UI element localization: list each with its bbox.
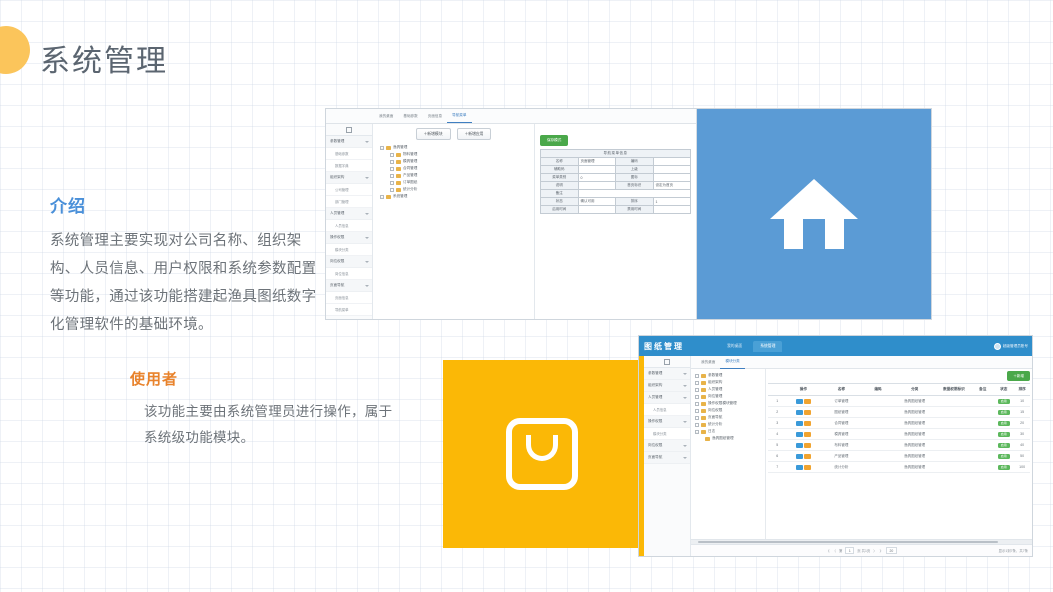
page-total-label: 页 共1页 (857, 548, 870, 553)
cell-code (862, 396, 893, 407)
sidebar-collapse-button[interactable] (326, 124, 372, 136)
cell-index: 2 (768, 407, 786, 418)
checkbox-icon[interactable] (390, 153, 394, 157)
cell-status: 启用 (993, 451, 1014, 462)
tree-node-selected[interactable]: 渔具图纸管理 (693, 435, 763, 442)
sidebar-label: 操作权限 (330, 235, 344, 240)
page-title: 系统管理 (40, 36, 168, 80)
hamburger-icon (346, 127, 352, 133)
view-icon[interactable] (796, 410, 803, 415)
table-row[interactable]: 7 统计分析 渔具图纸管理 启用 100 (768, 462, 1030, 473)
col-sort: 排序 (1014, 384, 1030, 396)
cell-index: 1 (768, 396, 786, 407)
header-tab-desktop[interactable]: 我的桌面 (720, 341, 749, 352)
cell-code (862, 451, 893, 462)
tree-node-label: 统计分析 (708, 422, 722, 427)
chevron-down-icon (683, 421, 687, 423)
page-label: 第 (839, 548, 842, 553)
folder-icon (386, 146, 391, 150)
chevron-down-icon (365, 237, 369, 239)
bottom-category-tree: 参数管理 组织架构 人员管理 岗位管理 (691, 369, 766, 539)
cell-name: 订单管理 (820, 396, 862, 407)
sidebar-label: 参数管理 (648, 371, 662, 376)
checkbox-icon[interactable] (695, 402, 699, 406)
checkbox-icon[interactable] (390, 174, 394, 178)
cell-perm (936, 451, 973, 462)
tree-node-label: 页面导航 (708, 415, 722, 420)
record-count-label: 显示1到7条，共7条 (999, 548, 1028, 553)
folder-icon (386, 195, 391, 199)
sidebar-collapse-button[interactable] (644, 356, 690, 368)
add-module-button[interactable]: ＋新增模块 (416, 128, 451, 140)
tree-node-label: 岗位权限 (708, 408, 722, 413)
sidebar-group-org[interactable]: 组织架构 (644, 380, 690, 392)
cell-sort: 40 (1014, 440, 1030, 451)
cell-status: 启用 (993, 440, 1014, 451)
tree-node-label: 合同管理 (403, 166, 417, 171)
sidebar-group-post-perm[interactable]: 岗位权限 (644, 440, 690, 452)
cell-category: 渔具图纸管理 (894, 440, 936, 451)
account-name: 超级管理员账号 (1003, 344, 1028, 349)
tree-node[interactable]: 统计分析 (693, 421, 763, 428)
edit-icon[interactable] (804, 399, 811, 404)
grid-header-row: 操作 名称 编码 分类 数据权限标识 备注 状态 排序 (768, 384, 1030, 396)
page-prev-button[interactable]: 〈 (833, 548, 836, 553)
tree-node[interactable]: 订单图纸 (378, 179, 529, 186)
view-icon[interactable] (796, 399, 803, 404)
cell-index: 3 (768, 418, 786, 429)
cell-name: 布料管理 (820, 440, 862, 451)
form-title: 导航菜单信息 (541, 150, 691, 158)
folder-icon (396, 174, 401, 178)
form-label: 禁用时间 (616, 206, 654, 214)
bottom-main-panel: 我的桌面 模块分类 参数管理 组织架构 (691, 356, 1032, 556)
intro-heading: 介绍 (50, 192, 328, 217)
user-heading: 使用者 (130, 368, 400, 389)
bottom-screenshot: 图纸管理 我的桌面 系统管理 超级管理员账号 参数管理 组织架构 人员管理 (638, 335, 1033, 557)
tree-node[interactable]: - 日志 (693, 428, 763, 435)
checkbox-icon[interactable] (390, 167, 394, 171)
form-value[interactable] (653, 166, 691, 174)
page-next-button[interactable]: 〉 (873, 548, 876, 553)
checkbox-icon[interactable] (695, 388, 699, 392)
form-label: 图标 (616, 174, 654, 182)
cell-perm (936, 440, 973, 451)
form-label: 状态 (541, 198, 579, 206)
page-first-button[interactable]: 《 (826, 548, 829, 553)
tree-node[interactable]: 统计分析 (378, 186, 529, 193)
form-label: 菜单类别 (541, 174, 579, 182)
subtab-my-desktop[interactable]: 我的桌面 (696, 356, 720, 369)
status-badge: 启用 (998, 443, 1010, 448)
save-mode-button[interactable]: 保存模式 (540, 135, 568, 146)
folder-icon (701, 409, 706, 413)
status-badge: 启用 (998, 454, 1010, 459)
expand-icon[interactable]: - (380, 146, 384, 150)
tree-node-label: 人员管理 (708, 387, 722, 392)
tree-node-label: 组织架构 (708, 380, 722, 385)
cell-name: 产品管理 (820, 451, 862, 462)
tree-node[interactable]: 组织架构 (693, 379, 763, 386)
form-label: 名称 (541, 158, 579, 166)
page-size-select[interactable]: 20 (886, 547, 897, 554)
bag-handle-shape (526, 435, 558, 461)
sidebar-item-module-cat[interactable]: 模块分类 (326, 244, 372, 256)
sidebar-item-company[interactable]: 公司管理 (326, 184, 372, 196)
add-app-button[interactable]: ＋新增应用 (457, 128, 492, 140)
account-area[interactable]: 超级管理员账号 (994, 343, 1032, 350)
folder-icon (396, 167, 401, 171)
cell-name: 模具管理 (820, 429, 862, 440)
yellow-bag-tile (443, 360, 640, 548)
bottom-sidebar: 参数管理 组织架构 人员管理 人员信息 操作权限 模块分类 岗位权限 (644, 356, 691, 556)
top-tree-panel: ＋新增模块 ＋新增应用 - 渔具管理 物料管理 (373, 124, 534, 319)
folder-icon (701, 381, 706, 385)
tab-nav-menu[interactable]: 导航菜单 (447, 109, 471, 123)
checkbox-icon[interactable] (695, 395, 699, 399)
cell-perm (936, 407, 973, 418)
cell-category: 渔具图纸管理 (894, 462, 936, 473)
tree-node[interactable]: 岗位权限 (693, 407, 763, 414)
sidebar-item-module-cat[interactable]: 模块分类 (644, 428, 690, 440)
form-value[interactable]: 1 (653, 198, 691, 206)
chevron-down-icon (683, 385, 687, 387)
pagination-bar: 《 〈 第 1 页 共1页 〉 》 20 显示1到7条，共7条 (691, 544, 1032, 556)
chevron-down-icon (683, 457, 687, 459)
folder-icon (701, 388, 706, 392)
tree-node[interactable]: - 渔具管理 (378, 144, 529, 151)
form-label: 说明 (541, 182, 579, 190)
checkbox-icon[interactable] (695, 409, 699, 413)
cell-name: 图纸管理 (820, 407, 862, 418)
avatar (994, 343, 1001, 350)
checkbox-icon[interactable] (390, 181, 394, 185)
form-label: 启用时间 (541, 206, 579, 214)
sidebar-group-page-nav[interactable]: 页面导航 (644, 452, 690, 464)
view-icon[interactable] (796, 465, 803, 470)
module-grid: 操作 名称 编码 分类 数据权限标识 备注 状态 排序 1 订单管 (768, 383, 1030, 473)
folder-icon (396, 160, 401, 164)
cell-category: 渔具图纸管理 (894, 407, 936, 418)
cell-sort: 15 (1014, 407, 1030, 418)
cell-category: 渔具图纸管理 (894, 451, 936, 462)
form-value[interactable] (578, 206, 616, 214)
cell-perm (936, 462, 973, 473)
edit-icon[interactable] (804, 465, 811, 470)
table-row[interactable]: 1 订单管理 渔具图纸管理 启用 10 (768, 396, 1030, 407)
sidebar-group-post-perm[interactable]: 岗位权限 (326, 256, 372, 268)
sidebar-group-param[interactable]: 参数管理 (326, 136, 372, 148)
edit-icon[interactable] (804, 454, 811, 459)
checkbox-icon[interactable] (390, 160, 394, 164)
table-row[interactable]: 3 合同管理 渔具图纸管理 启用 20 (768, 418, 1030, 429)
bottom-grid-panel: ＋新增 操作 名称 编码 分类 数据权限标识 (766, 369, 1032, 539)
col-name: 名称 (820, 384, 862, 396)
edit-icon[interactable] (804, 443, 811, 448)
sidebar-item-staff-info[interactable]: 人员信息 (326, 220, 372, 232)
table-row[interactable]: 5 布料管理 渔具图纸管理 启用 40 (768, 440, 1030, 451)
folder-icon (701, 395, 706, 399)
form-label: 备注 (541, 190, 579, 198)
user-section: 使用者 该功能主要由系统管理员进行操作，属于系统级功能模块。 (130, 368, 400, 451)
chevron-down-icon (683, 373, 687, 375)
cell-sort: 100 (1014, 462, 1030, 473)
chevron-down-icon (365, 285, 369, 287)
tree-node[interactable]: 人员管理 (693, 386, 763, 393)
sidebar-group-staff[interactable]: 人员管理 (644, 392, 690, 404)
sidebar-label: 页面导航 (330, 283, 344, 288)
form-value[interactable]: 0 (578, 174, 616, 182)
sidebar-label: 组织架构 (330, 175, 344, 180)
sidebar-item-basic-params[interactable]: 基础参数 (326, 148, 372, 160)
cell-status: 启用 (993, 429, 1014, 440)
sidebar-label: 页面导航 (648, 455, 662, 460)
status-badge: 启用 (998, 421, 1010, 426)
cell-perm (936, 429, 973, 440)
top-screenshot: 我的桌面 基础参数 页面信息 导航菜单 参数管理 基础参数 数据字典 组织架构 (325, 108, 932, 320)
cell-action[interactable] (786, 429, 820, 440)
sidebar-item-department[interactable]: 部门管理 (326, 196, 372, 208)
sidebar-label: 组织架构 (648, 383, 662, 388)
cell-name: 统计分析 (820, 462, 862, 473)
cell-perm (936, 396, 973, 407)
header-tab-system[interactable]: 系统管理 (753, 341, 782, 352)
add-button[interactable]: ＋新增 (1007, 371, 1030, 381)
top-sidebar: 参数管理 基础参数 数据字典 组织架构 公司管理 部门管理 人员管理 人员信息 … (326, 124, 373, 319)
sidebar-item-dict[interactable]: 数据字典 (326, 160, 372, 172)
view-icon[interactable] (796, 443, 803, 448)
form-value[interactable]: 确认可用 (578, 198, 616, 206)
col-category: 分类 (894, 384, 936, 396)
tree-node[interactable]: 模具管理 (378, 158, 529, 165)
checkbox-icon[interactable] (695, 381, 699, 385)
folder-icon (396, 153, 401, 157)
folder-icon (705, 437, 710, 441)
folder-icon (396, 181, 401, 185)
folder-icon (701, 423, 706, 427)
tree-node-label: 操作权限模块管理 (708, 401, 737, 406)
tree-node-label: 渔具图纸管理 (712, 436, 734, 441)
cell-sort: 10 (1014, 396, 1030, 407)
cell-perm (936, 418, 973, 429)
status-badge: 启用 (998, 410, 1010, 415)
cell-sort: 50 (1014, 451, 1030, 462)
tree-node-label: 渔具管理 (393, 145, 407, 150)
cell-sort: 20 (1014, 418, 1030, 429)
status-badge: 启用 (998, 465, 1010, 470)
folder-icon (396, 188, 401, 192)
app-logo: 图纸管理 (639, 341, 716, 352)
subtab-module-category[interactable]: 模块分类 (720, 355, 744, 369)
tree-node-label: 产品管理 (403, 173, 417, 178)
cell-action[interactable] (786, 462, 820, 473)
sidebar-label: 岗位权限 (648, 443, 662, 448)
tree-node[interactable]: 岗位管理 (693, 393, 763, 400)
tree-node[interactable]: 操作权限模块管理 (693, 400, 763, 407)
cell-action[interactable] (786, 396, 820, 407)
tree-node-label: 统计分析 (403, 187, 417, 192)
col-memo: 备注 (972, 384, 993, 396)
status-badge: 启用 (998, 432, 1010, 437)
sidebar-group-param[interactable]: 参数管理 (644, 368, 690, 380)
cell-memo (972, 418, 993, 429)
cell-code (862, 440, 893, 451)
edit-icon[interactable] (804, 421, 811, 426)
sidebar-group-org[interactable]: 组织架构 (326, 172, 372, 184)
sidebar-item-nav-menu[interactable]: 导航菜单 (326, 304, 372, 316)
col-perm-flag: 数据权限标识 (936, 384, 973, 396)
shopping-bag-icon (506, 418, 578, 490)
cell-status: 启用 (993, 407, 1014, 418)
intro-body: 系统管理主要实现对公司名称、组织架构、人员信息、用户权限和系统参数配置等功能，通… (50, 227, 328, 339)
chevron-down-icon (365, 261, 369, 263)
view-icon[interactable] (796, 421, 803, 426)
cell-category: 渔具图纸管理 (894, 429, 936, 440)
col-index (768, 384, 786, 396)
view-icon[interactable] (796, 432, 803, 437)
cell-code (862, 429, 893, 440)
decorative-circle (0, 26, 30, 74)
tree-node-label: 订单图纸 (403, 180, 417, 185)
form-value[interactable]: 设定为首页 (653, 182, 691, 190)
form-value[interactable] (653, 174, 691, 182)
form-value[interactable] (653, 206, 691, 214)
cell-name: 合同管理 (820, 418, 862, 429)
chevron-down-icon (365, 213, 369, 215)
form-value[interactable]: 页面管理 (578, 158, 616, 166)
cell-code (862, 418, 893, 429)
table-row[interactable]: 4 模具管理 渔具图纸管理 启用 30 (768, 429, 1030, 440)
page-input[interactable]: 1 (845, 547, 854, 554)
top-tabbar: 我的桌面 基础参数 页面信息 导航菜单 (326, 109, 696, 124)
cell-action[interactable] (786, 440, 820, 451)
checkbox-icon[interactable] (695, 416, 699, 420)
table-row[interactable]: 6 产品管理 渔具图纸管理 启用 50 (768, 451, 1030, 462)
bottom-app-header: 图纸管理 我的桌面 系统管理 超级管理员账号 (639, 336, 1032, 356)
form-label: 编码 (616, 158, 654, 166)
cell-action[interactable] (786, 451, 820, 462)
form-label: 辅助码 (541, 166, 579, 174)
checkbox-icon[interactable] (695, 423, 699, 427)
scrollbar-thumb[interactable] (698, 541, 998, 544)
top-form-panel: 保存模式 导航菜单信息 名称 页面管理 编码 辅助码 上级 (535, 124, 696, 319)
col-action: 操作 (786, 384, 820, 396)
sidebar-label: 岗位权限 (330, 259, 344, 264)
sidebar-group-page-nav[interactable]: 页面导航 (326, 280, 372, 292)
sidebar-group-staff[interactable]: 人员管理 (326, 208, 372, 220)
chevron-down-icon (683, 397, 687, 399)
folder-icon (701, 430, 706, 434)
tree-node[interactable]: 参数管理 (693, 372, 763, 379)
sidebar-group-op-perm[interactable]: 操作权限 (326, 232, 372, 244)
tree-node-label: 模具管理 (403, 159, 417, 164)
checkbox-icon[interactable] (695, 374, 699, 378)
folder-icon (701, 402, 706, 406)
cell-code (862, 407, 893, 418)
cell-memo (972, 407, 993, 418)
sidebar-label: 人员管理 (648, 395, 662, 400)
tree-node-label: 岗位管理 (708, 394, 722, 399)
nav-menu-form-table: 导航菜单信息 名称 页面管理 编码 辅助码 上级 菜单类别 (540, 149, 691, 214)
cell-memo (972, 396, 993, 407)
tree-node-label: 日志 (708, 429, 715, 434)
cell-status: 启用 (993, 462, 1014, 473)
form-label: 排序 (616, 198, 654, 206)
checkbox-icon[interactable] (390, 188, 394, 192)
view-icon[interactable] (796, 454, 803, 459)
cell-memo (972, 429, 993, 440)
tree-node-label: 参数管理 (708, 373, 722, 378)
edit-icon[interactable] (804, 410, 811, 415)
cell-index: 4 (768, 429, 786, 440)
cell-index: 5 (768, 440, 786, 451)
cell-index: 6 (768, 451, 786, 462)
sidebar-label: 参数管理 (330, 139, 344, 144)
col-status: 状态 (993, 384, 1014, 396)
table-row[interactable]: 2 图纸管理 渔具图纸管理 启用 15 (768, 407, 1030, 418)
sidebar-item-staff-info[interactable]: 人员信息 (644, 404, 690, 416)
status-badge: 启用 (998, 399, 1010, 404)
form-value[interactable] (578, 182, 616, 190)
tab-page-info[interactable]: 页面信息 (423, 110, 447, 123)
cell-memo (972, 462, 993, 473)
tree-node[interactable]: 合同管理 (378, 165, 529, 172)
expand-icon[interactable]: - (380, 195, 384, 199)
horizontal-scrollbar[interactable] (691, 539, 1032, 544)
expand-icon[interactable]: - (695, 430, 699, 434)
sidebar-label: 操作权限 (648, 419, 662, 424)
intro-section: 介绍 系统管理主要实现对公司名称、组织架构、人员信息、用户权限和系统参数配置等功… (50, 192, 328, 339)
cell-action[interactable] (786, 407, 820, 418)
cell-code (862, 462, 893, 473)
form-value[interactable] (653, 158, 691, 166)
folder-icon (701, 416, 706, 420)
tree-node-label: 系统管理 (393, 194, 407, 199)
tab-my-desktop[interactable]: 我的桌面 (374, 110, 398, 123)
sidebar-group-op-perm[interactable]: 操作权限 (644, 416, 690, 428)
top-app-window: 我的桌面 基础参数 页面信息 导航菜单 参数管理 基础参数 数据字典 组织架构 (326, 109, 697, 319)
hamburger-icon (664, 359, 670, 365)
form-label: 上级 (616, 166, 654, 174)
cell-action[interactable] (786, 418, 820, 429)
folder-icon (701, 374, 706, 378)
tab-basic-params[interactable]: 基础参数 (398, 110, 422, 123)
cell-status: 启用 (993, 418, 1014, 429)
cell-memo (972, 440, 993, 451)
tree-node[interactable]: 页面导航 (693, 414, 763, 421)
page-last-button[interactable]: 》 (880, 548, 883, 553)
tree-node[interactable]: 产品管理 (378, 172, 529, 179)
module-tree: - 渔具管理 物料管理 模具管理 (378, 144, 529, 200)
chevron-down-icon (365, 141, 369, 143)
cell-category: 渔具图纸管理 (894, 396, 936, 407)
tree-node[interactable]: 物料管理 (378, 151, 529, 158)
cell-sort: 30 (1014, 429, 1030, 440)
tree-node-label: 物料管理 (403, 152, 417, 157)
home-icon (768, 173, 860, 255)
tree-node[interactable]: - 系统管理 (378, 193, 529, 200)
form-value[interactable] (578, 190, 691, 198)
chevron-down-icon (365, 177, 369, 179)
form-value[interactable] (578, 166, 616, 174)
sidebar-item-page-info[interactable]: 页面信息 (326, 292, 372, 304)
cell-category: 渔具图纸管理 (894, 418, 936, 429)
sidebar-label: 人员管理 (330, 211, 344, 216)
edit-icon[interactable] (804, 432, 811, 437)
sidebar-item-post-info[interactable]: 岗位信息 (326, 268, 372, 280)
cell-memo (972, 451, 993, 462)
cell-index: 7 (768, 462, 786, 473)
